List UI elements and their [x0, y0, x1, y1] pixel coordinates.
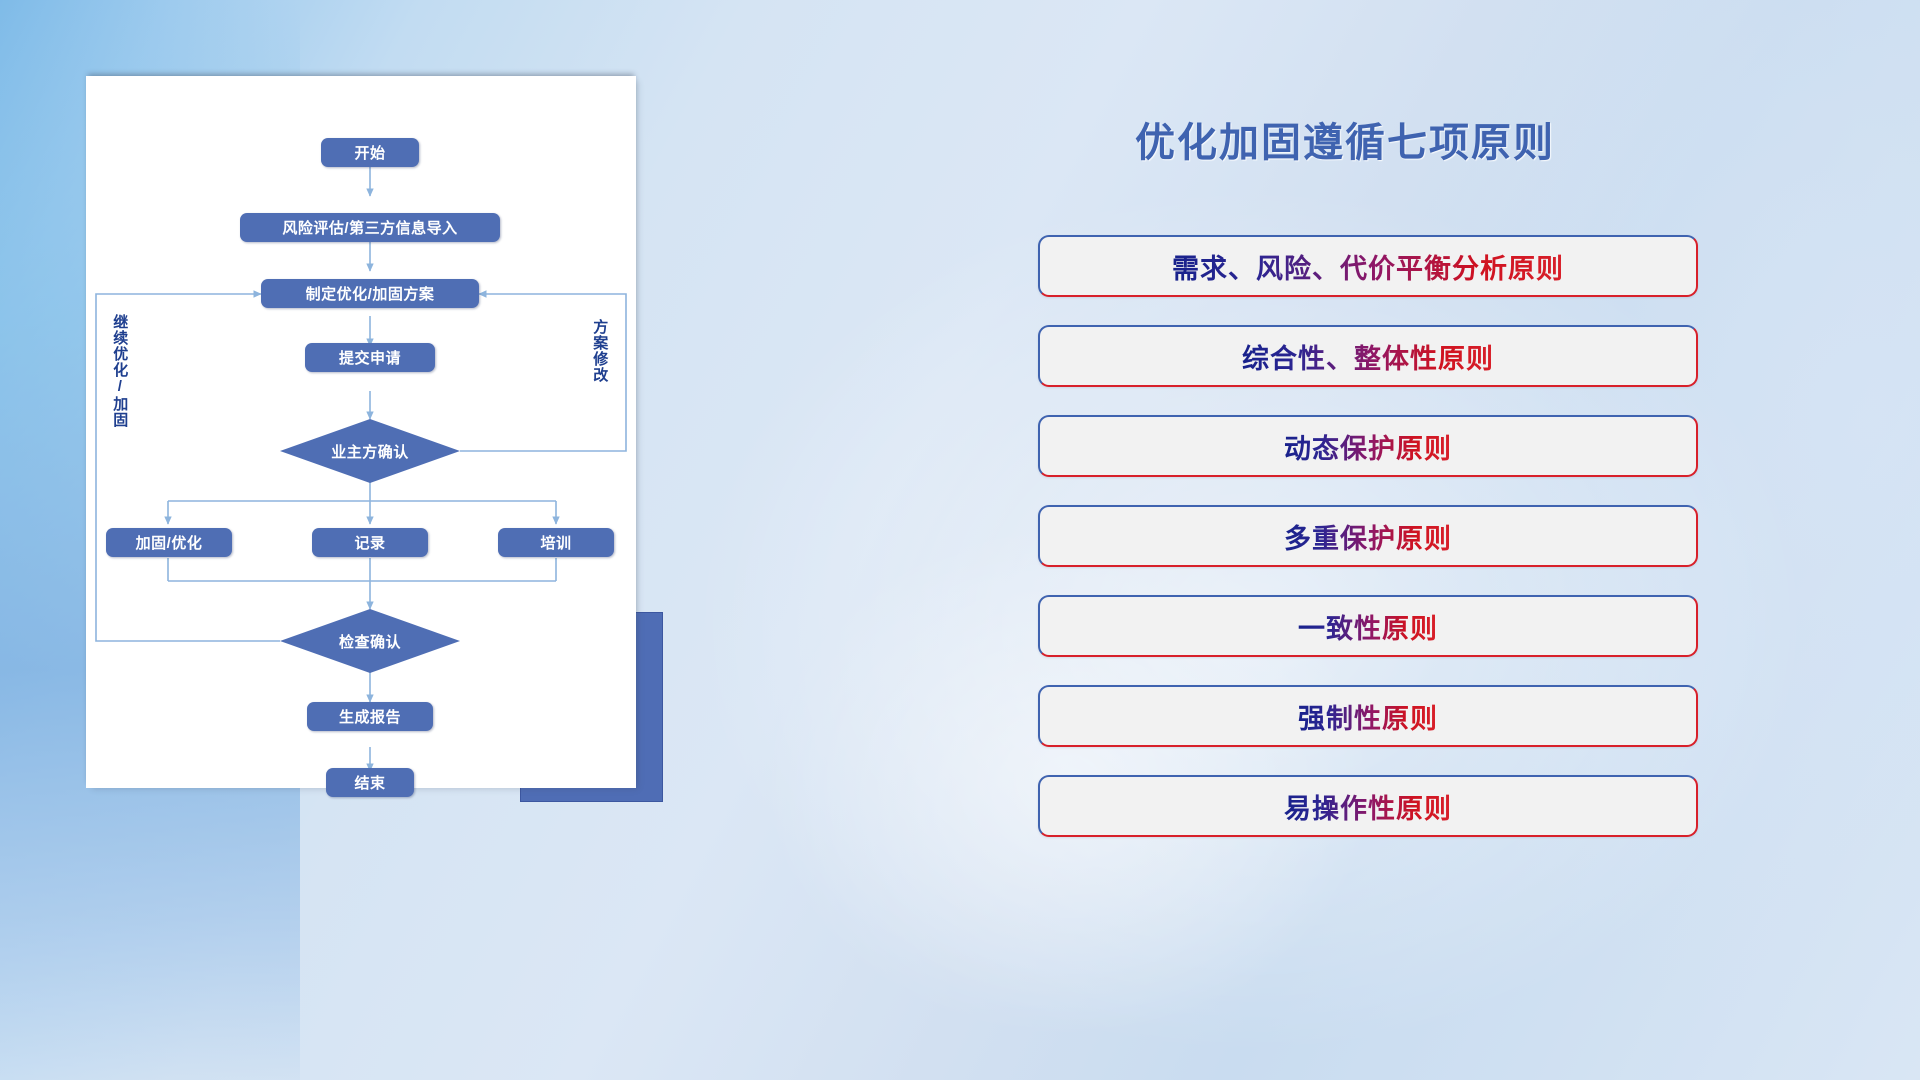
- principles-card-list: 需求、风险、代价平衡分析原则 综合性、整体性原则 动态保护原则 多重保护原则 一…: [1038, 235, 1698, 865]
- flow-node-label: 业主方确认: [331, 441, 409, 462]
- flow-node-label: 风险评估/第三方信息导入: [282, 217, 457, 238]
- principle-card[interactable]: 需求、风险、代价平衡分析原则: [1038, 235, 1698, 297]
- principle-card[interactable]: 易操作性原则: [1038, 775, 1698, 837]
- principle-card[interactable]: 多重保护原则: [1038, 505, 1698, 567]
- principle-card[interactable]: 强制性原则: [1038, 685, 1698, 747]
- flow-node-label: 开始: [354, 142, 385, 163]
- flow-edge-label-right-loop: 方案修改: [592, 319, 607, 383]
- flow-node-label-wrap: 业主方确认: [280, 419, 460, 483]
- flow-node-label: 检查确认: [339, 631, 401, 652]
- flow-node-report[interactable]: 生成报告: [307, 702, 433, 731]
- page-title: 优化加固遵循七项原则: [1020, 110, 1670, 168]
- flow-node-label: 提交申请: [339, 347, 401, 368]
- principle-card[interactable]: 综合性、整体性原则: [1038, 325, 1698, 387]
- flow-node-assess[interactable]: 风险评估/第三方信息导入: [240, 213, 500, 242]
- flow-node-record[interactable]: 记录: [312, 528, 428, 557]
- principle-card-label: 需求、风险、代价平衡分析原则: [1172, 247, 1564, 286]
- flow-node-label-wrap: 检查确认: [280, 609, 460, 673]
- principle-card-label: 多重保护原则: [1284, 517, 1452, 556]
- flow-edge-label-left-loop: 继续优化/加固: [112, 314, 127, 428]
- principles-column: 优化加固遵循七项原则 需求、风险、代价平衡分析原则 综合性、整体性原则 动态保护…: [1020, 0, 1920, 1080]
- principle-card-label: 综合性、整体性原则: [1242, 337, 1494, 376]
- principle-card-label: 一致性原则: [1298, 607, 1438, 646]
- flow-node-label: 记录: [354, 532, 385, 553]
- flow-node-reinforce[interactable]: 加固/优化: [106, 528, 232, 557]
- flow-node-label: 生成报告: [339, 706, 401, 727]
- flowchart-panel: 开始 风险评估/第三方信息导入 制定优化/加固方案 提交申请 业主方确认 加固/…: [86, 76, 636, 788]
- flow-node-plan[interactable]: 制定优化/加固方案: [261, 279, 479, 308]
- principle-card-label: 动态保护原则: [1284, 427, 1452, 466]
- flow-node-label: 加固/优化: [136, 532, 203, 553]
- flow-node-label: 结束: [354, 772, 385, 793]
- flow-node-end[interactable]: 结束: [326, 768, 414, 797]
- flow-node-submit[interactable]: 提交申请: [305, 343, 435, 372]
- principle-card[interactable]: 动态保护原则: [1038, 415, 1698, 477]
- flow-node-label: 培训: [540, 532, 571, 553]
- flow-node-train[interactable]: 培训: [498, 528, 614, 557]
- principle-card-label: 强制性原则: [1298, 697, 1438, 736]
- flowchart-canvas: 开始 风险评估/第三方信息导入 制定优化/加固方案 提交申请 业主方确认 加固/…: [86, 76, 636, 788]
- flow-node-start[interactable]: 开始: [321, 138, 419, 167]
- flow-node-check-confirm[interactable]: 检查确认: [280, 609, 460, 673]
- flow-node-label: 制定优化/加固方案: [306, 283, 435, 304]
- principle-card[interactable]: 一致性原则: [1038, 595, 1698, 657]
- flow-node-owner-confirm[interactable]: 业主方确认: [280, 419, 460, 483]
- principle-card-label: 易操作性原则: [1284, 787, 1452, 826]
